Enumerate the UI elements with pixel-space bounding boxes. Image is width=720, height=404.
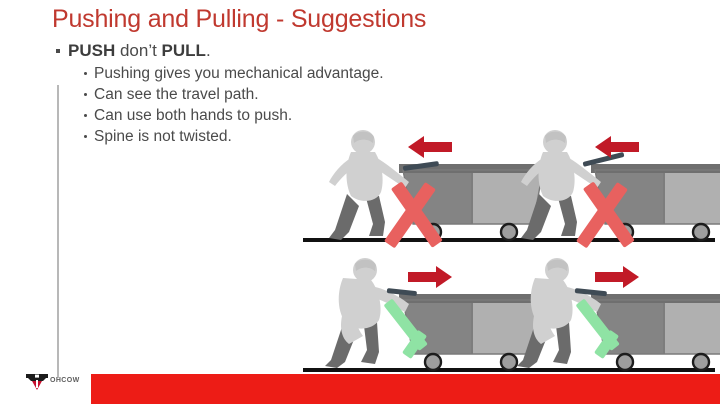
bullet-level1: PUSH don’t PULL. [56, 40, 456, 62]
panel-top-left [329, 130, 547, 248]
push-keyword: PUSH [68, 41, 115, 60]
ohcow-logo-mark-icon [26, 372, 48, 390]
arrow-right-bottom-left [408, 266, 452, 288]
sub-bullet-label: Spine is not twisted. [94, 128, 232, 145]
sub-bullet-label: Can use both hands to push. [94, 107, 292, 124]
panel-bottom-right [517, 258, 720, 370]
ohcow-wordmark: OHCOW [50, 377, 80, 384]
sub-bullet-item: Pushing gives you mechanical advantage. [84, 63, 456, 84]
vertical-divider [57, 85, 59, 378]
footer-red-band [91, 374, 720, 404]
round-bullet-icon [84, 114, 87, 117]
round-bullet-icon [84, 93, 87, 96]
slide-canvas: Pushing and Pulling - Suggestions PUSH d… [0, 0, 720, 404]
round-bullet-icon [84, 72, 87, 75]
square-bullet-icon [56, 49, 60, 53]
page-title: Pushing and Pulling - Suggestions [52, 5, 672, 34]
panel-bottom-left [325, 258, 547, 370]
panel-top-right [521, 130, 720, 248]
pull-keyword: PULL [162, 41, 206, 60]
arrow-right-bottom-right [595, 266, 639, 288]
sub-bullet-label: Can see the travel path. [94, 86, 259, 103]
sub-bullet-item: Can see the travel path. [84, 84, 456, 105]
round-bullet-icon [84, 135, 87, 138]
illustration-pushing-pulling [295, 118, 720, 378]
arrow-left-top-left [408, 136, 452, 158]
sub-bullet-label: Pushing gives you mechanical advantage. [94, 65, 384, 82]
dont-text: don’t [115, 41, 161, 60]
period-text: . [206, 41, 211, 60]
ohcow-logo: OHCOW [26, 372, 88, 390]
